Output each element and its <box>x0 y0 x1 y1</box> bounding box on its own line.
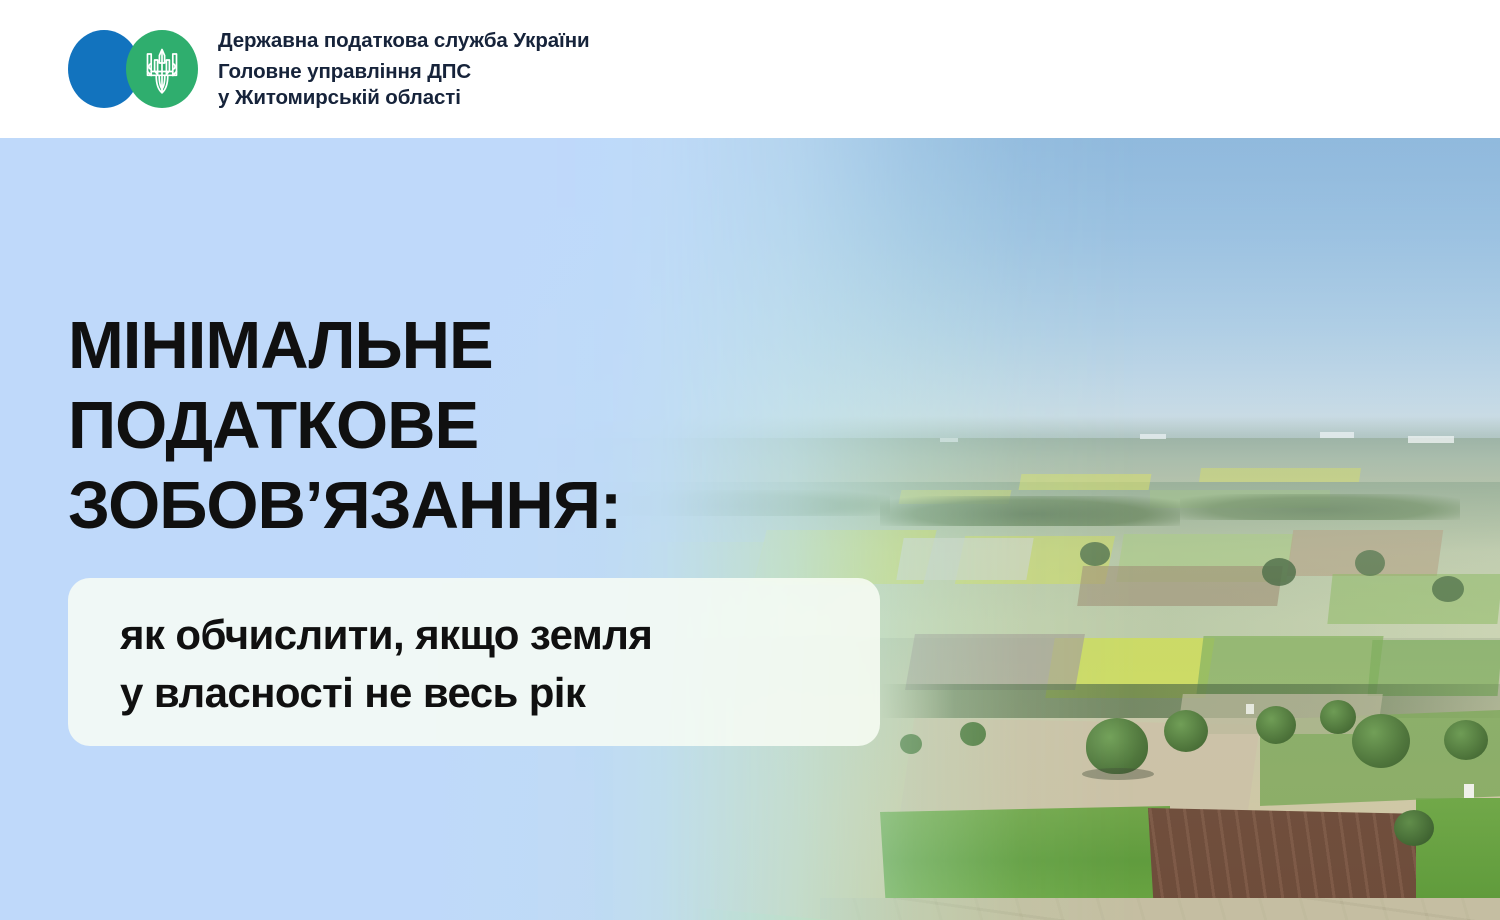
agency-name-line1: Державна податкова служба України <box>218 27 590 55</box>
agency-name-line2: Головне управління ДПС <box>218 59 590 85</box>
agency-name-line3: у Житомирській області <box>218 85 590 111</box>
agency-logo <box>68 30 198 108</box>
page-title: МІНІМАЛЬНЕ ПОДАТКОВЕ ЗОБОВ’ЯЗАННЯ: <box>68 306 621 546</box>
poster-content: МІНІМАЛЬНЕ ПОДАТКОВЕ ЗОБОВ’ЯЗАННЯ: як об… <box>0 138 1500 920</box>
logo-block[interactable]: Державна податкова служба України Головн… <box>68 27 590 111</box>
agency-name-block: Державна податкова служба України Головн… <box>218 27 590 111</box>
subtitle-text: як обчислити, якщо земля у власності не … <box>120 606 880 722</box>
brand-header: Державна податкова служба України Головн… <box>0 0 1500 138</box>
ukrainian-trident-icon <box>126 30 198 108</box>
poster-root: МІНІМАЛЬНЕ ПОДАТКОВЕ ЗОБОВ’ЯЗАННЯ: як об… <box>0 0 1500 920</box>
